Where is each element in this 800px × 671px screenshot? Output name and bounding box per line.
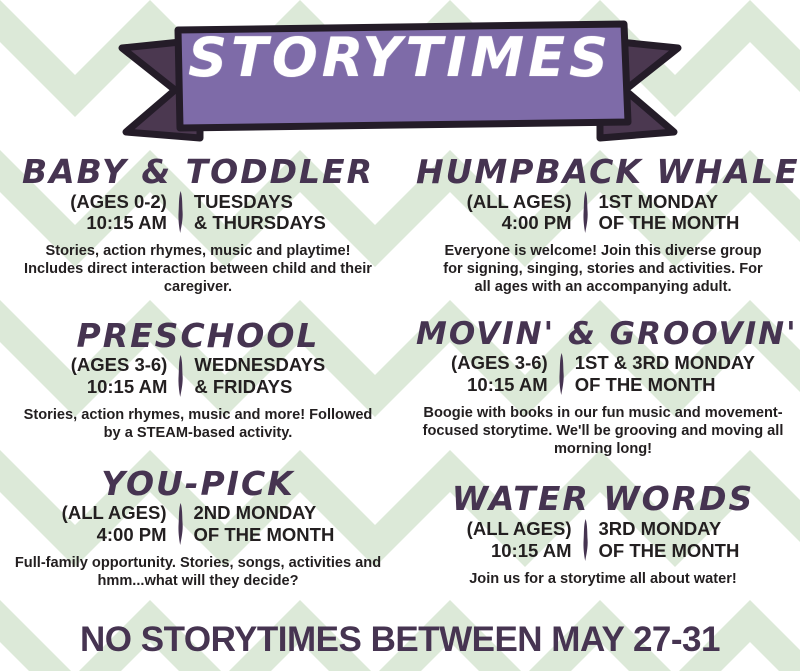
program-day-line-2: OF THE MONTH bbox=[575, 374, 755, 396]
program-ages: (ALL AGES) bbox=[467, 518, 572, 540]
program-title: BABY & TODDLER bbox=[14, 155, 382, 189]
program-title: WATER WORDS bbox=[416, 482, 790, 516]
program-day-line-2: OF THE MONTH bbox=[599, 212, 740, 234]
no-storytimes-notice-bar: NO STORYTIMES BETWEEN MAY 27-31 bbox=[0, 609, 800, 671]
brush-divider-icon bbox=[176, 354, 185, 398]
program-time: 4:00 PM bbox=[62, 524, 167, 546]
program-schedule: (AGES 3-6) 10:15 AM 1ST & 3RD MONDAY OF … bbox=[416, 352, 790, 396]
program-audience-and-time: (AGES 3-6) 10:15 AM bbox=[451, 352, 548, 396]
program-ages: (ALL AGES) bbox=[467, 191, 572, 213]
program-time: 10:15 AM bbox=[451, 374, 548, 396]
program-audience-and-time: (ALL AGES) 4:00 PM bbox=[467, 191, 572, 235]
program-title: MOVIN' & GROOVIN' bbox=[416, 319, 790, 351]
program-schedule: (ALL AGES) 4:00 PM 2ND MONDAY OF THE MON… bbox=[14, 502, 382, 546]
program-schedule: (AGES 3-6) 10:15 AM WEDNESDAYS & FRIDAYS bbox=[14, 354, 382, 398]
brush-divider-icon bbox=[581, 518, 590, 562]
program-you-pick: YOU-PICK (ALL AGES) 4:00 PM 2ND MONDAY O… bbox=[14, 467, 382, 591]
program-days: TUESDAYS & THURSDAYS bbox=[194, 191, 326, 235]
program-ages: (ALL AGES) bbox=[62, 502, 167, 524]
program-time: 10:15 AM bbox=[467, 540, 572, 562]
program-ages: (AGES 0-2) bbox=[70, 191, 167, 213]
program-schedule: (ALL AGES) 10:15 AM 3RD MONDAY OF THE MO… bbox=[416, 518, 790, 562]
programs-container: BABY & TODDLER (AGES 0-2) 10:15 AM TUESD… bbox=[0, 155, 800, 610]
program-days: 2ND MONDAY OF THE MONTH bbox=[194, 502, 335, 546]
program-day-line-1: 1ST & 3RD MONDAY bbox=[575, 352, 755, 374]
brush-divider-icon bbox=[176, 191, 185, 235]
program-humpback-whale: HUMPBACK WHALE (ALL AGES) 4:00 PM 1ST MO… bbox=[416, 155, 790, 297]
program-ages: (AGES 3-6) bbox=[71, 354, 168, 376]
program-description: Stories, action rhymes, music and playti… bbox=[14, 243, 382, 296]
program-schedule: (ALL AGES) 4:00 PM 1ST MONDAY OF THE MON… bbox=[416, 191, 790, 235]
program-time: 10:15 AM bbox=[71, 376, 168, 398]
brush-divider-icon bbox=[581, 191, 590, 235]
no-storytimes-notice-text: NO STORYTIMES BETWEEN MAY 27-31 bbox=[80, 620, 720, 660]
program-day-line-2: & THURSDAYS bbox=[194, 212, 326, 234]
program-description: Stories, action rhymes, music and more! … bbox=[14, 407, 382, 443]
program-description: Boogie with books in our fun music and m… bbox=[416, 405, 790, 458]
program-day-line-2: OF THE MONTH bbox=[599, 540, 740, 562]
program-audience-and-time: (ALL AGES) 10:15 AM bbox=[467, 518, 572, 562]
program-ages: (AGES 3-6) bbox=[451, 352, 548, 374]
program-baby-and-toddler: BABY & TODDLER (AGES 0-2) 10:15 AM TUESD… bbox=[14, 155, 382, 297]
program-audience-and-time: (AGES 0-2) 10:15 AM bbox=[70, 191, 167, 235]
page-title: STORYTIMES bbox=[0, 31, 800, 85]
program-day-line-1: 3RD MONDAY bbox=[599, 518, 740, 540]
program-schedule: (AGES 0-2) 10:15 AM TUESDAYS & THURSDAYS bbox=[14, 191, 382, 235]
program-water-words: WATER WORDS (ALL AGES) 10:15 AM 3RD MOND… bbox=[416, 482, 790, 588]
storytimes-banner: STORYTIMES bbox=[0, 4, 800, 149]
program-days: 3RD MONDAY OF THE MONTH bbox=[599, 518, 740, 562]
spacer bbox=[14, 443, 382, 467]
program-day-line-1: WEDNESDAYS bbox=[194, 354, 325, 376]
program-days: WEDNESDAYS & FRIDAYS bbox=[194, 354, 325, 398]
program-description: Join us for a storytime all about water! bbox=[416, 571, 790, 589]
program-title: PRESCHOOL bbox=[14, 319, 382, 353]
program-description: Everyone is welcome! Join this diverse g… bbox=[416, 243, 790, 296]
program-title: YOU-PICK bbox=[14, 467, 382, 501]
program-days: 1ST MONDAY OF THE MONTH bbox=[599, 191, 740, 235]
program-description: Full-family opportunity. Stories, songs,… bbox=[14, 555, 382, 591]
program-day-line-2: & FRIDAYS bbox=[194, 376, 325, 398]
program-time: 10:15 AM bbox=[70, 212, 167, 234]
program-audience-and-time: (AGES 3-6) 10:15 AM bbox=[71, 354, 168, 398]
program-day-line-2: OF THE MONTH bbox=[194, 524, 335, 546]
program-audience-and-time: (ALL AGES) 4:00 PM bbox=[62, 502, 167, 546]
brush-divider-icon bbox=[176, 502, 185, 546]
program-days: 1ST & 3RD MONDAY OF THE MONTH bbox=[575, 352, 755, 396]
program-day-line-1: TUESDAYS bbox=[194, 191, 326, 213]
left-column: BABY & TODDLER (AGES 0-2) 10:15 AM TUESD… bbox=[0, 155, 400, 610]
program-movin-and-groovin: MOVIN' & GROOVIN' (AGES 3-6) 10:15 AM 1S… bbox=[416, 319, 790, 459]
program-day-line-1: 2ND MONDAY bbox=[194, 502, 335, 524]
program-title: HUMPBACK WHALE bbox=[416, 155, 790, 189]
program-preschool: PRESCHOOL (AGES 3-6) 10:15 AM WEDNESDAYS… bbox=[14, 319, 382, 443]
brush-divider-icon bbox=[557, 352, 566, 396]
program-day-line-1: 1ST MONDAY bbox=[599, 191, 740, 213]
right-column: HUMPBACK WHALE (ALL AGES) 4:00 PM 1ST MO… bbox=[400, 155, 800, 610]
program-time: 4:00 PM bbox=[467, 212, 572, 234]
